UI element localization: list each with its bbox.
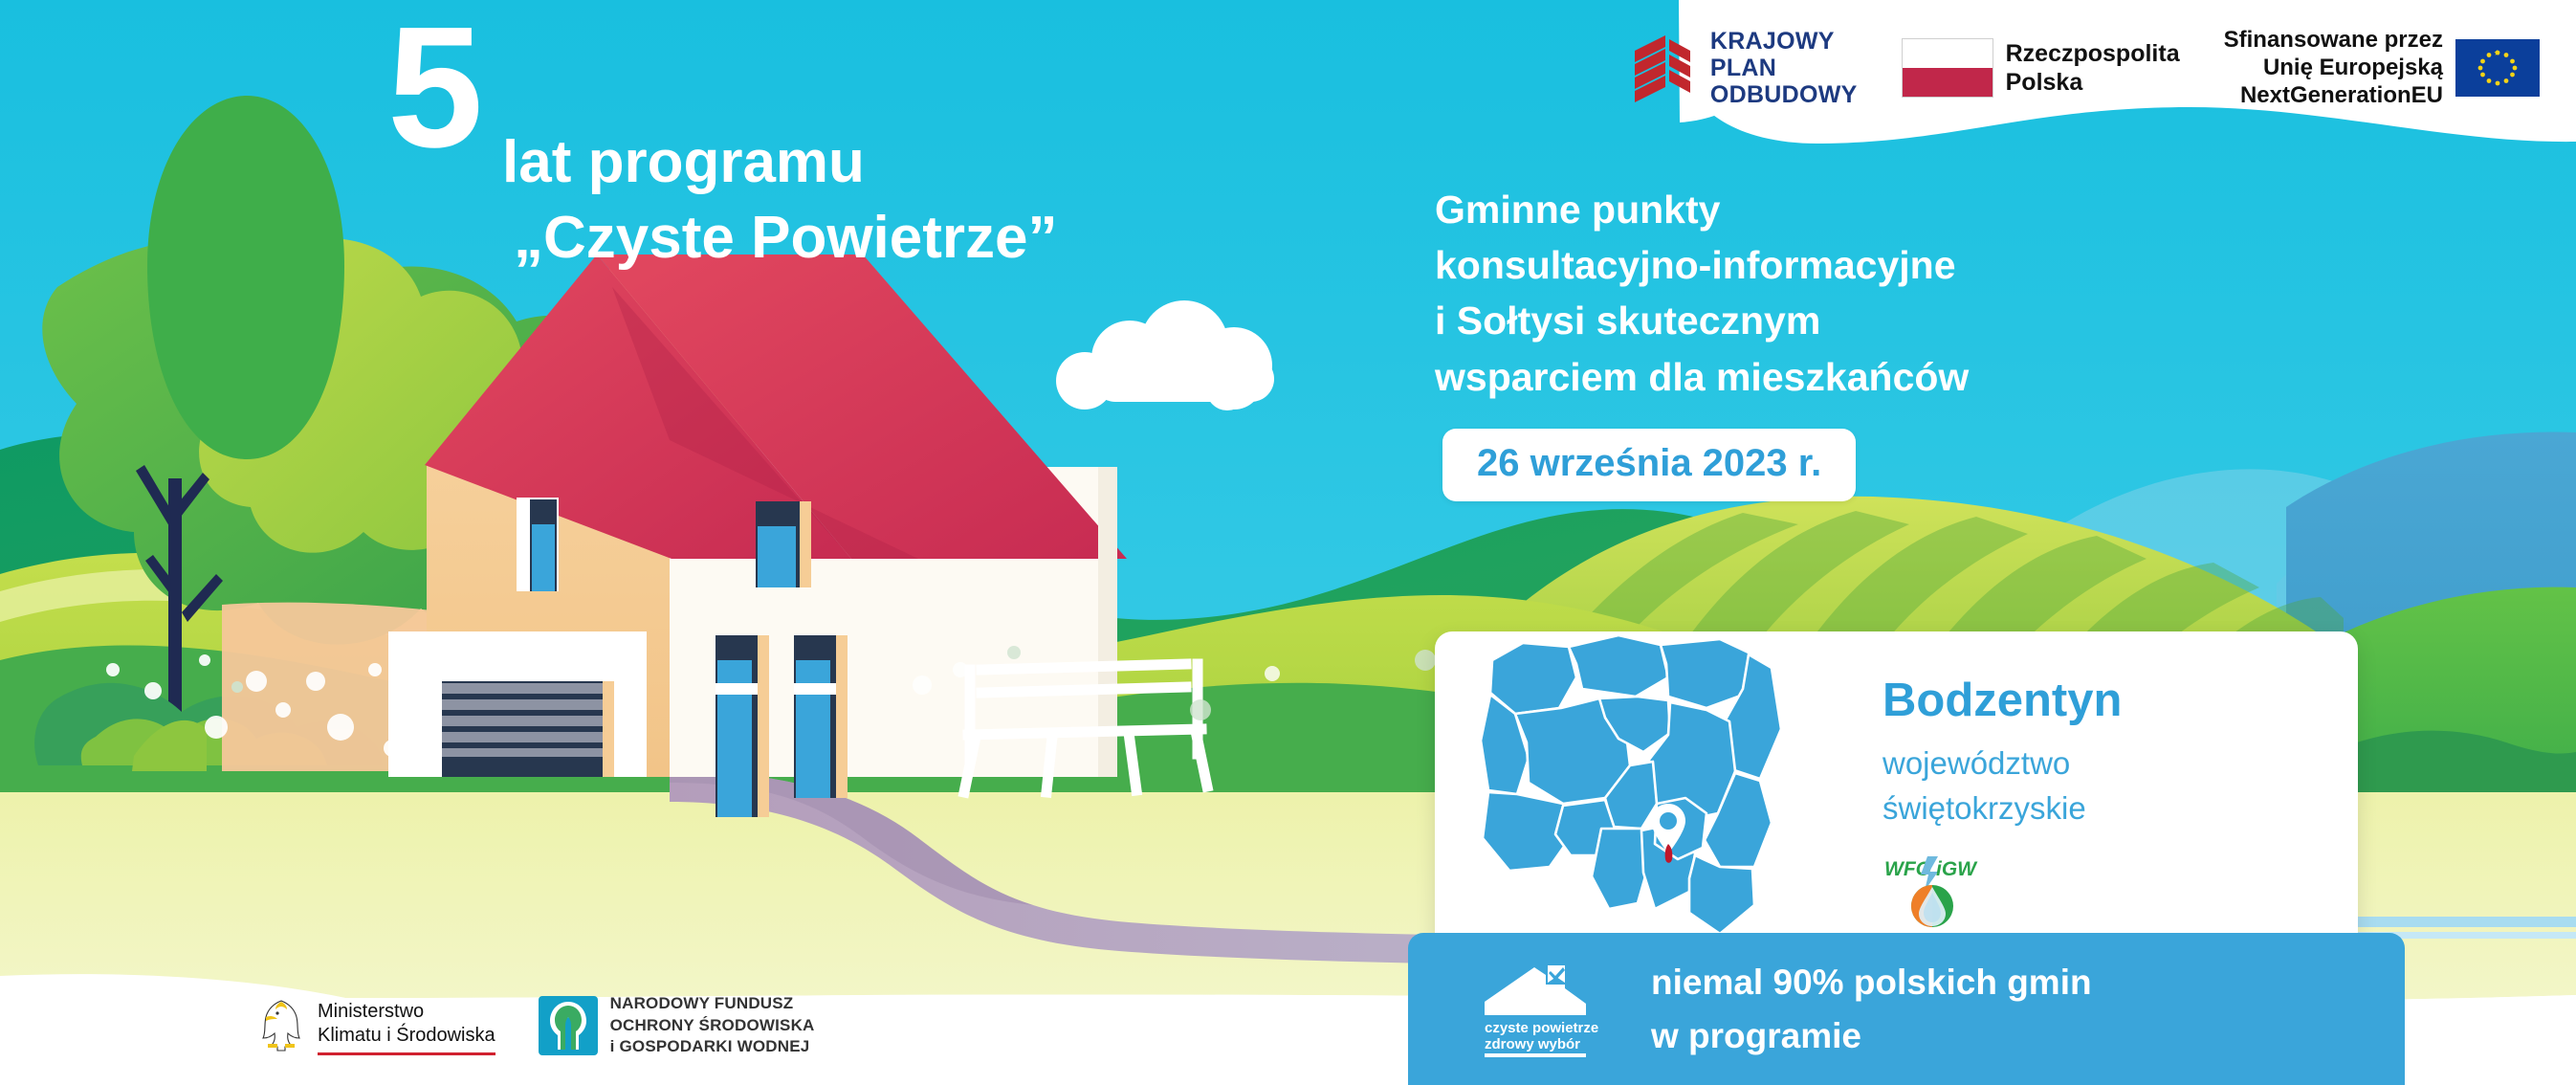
- nfosigw-line-3: i GOSPODARKI WODNEJ: [610, 1036, 815, 1058]
- eu-flag-icon: [2455, 39, 2540, 97]
- ministry-name: Ministerstwo Klimatu i Środowiska: [318, 1000, 495, 1048]
- region-line-1: województwo: [1882, 742, 2122, 786]
- kpo-logo: KRAJOWY PLAN ODBUDOWY: [1627, 28, 1858, 108]
- poland-line-1: Rzeczpospolita: [2006, 39, 2180, 68]
- headline: 5 lat programu „Czyste Powietrze”: [387, 27, 1058, 277]
- city-name: Bodzentyn: [1882, 677, 2122, 724]
- kpo-logo-text: KRAJOWY PLAN ODBUDOWY: [1710, 28, 1858, 108]
- poland-voivodeship-map: [1435, 631, 1846, 952]
- headline-line-1: lat programu: [502, 124, 1058, 200]
- headline-line-2: „Czyste Powietrze”: [502, 200, 1058, 276]
- nfosigw-logo: NARODOWY FUNDUSZ OCHRONY ŚRODOWISKA i GO…: [539, 993, 815, 1058]
- location-card: Bodzentyn województwo świętokrzyskie WFO…: [1435, 631, 2358, 952]
- ministry-logo: Ministerstwo Klimatu i Środowiska: [256, 996, 495, 1055]
- campaign-banner: KRAJOWY PLAN ODBUDOWY Rzeczpospolita Pol…: [0, 0, 2576, 1085]
- anniversary-number: 5: [387, 17, 477, 159]
- event-date-chip: 26 września 2023 r.: [1442, 429, 1856, 501]
- wfosigw-logo-icon: WFO iGW: [1882, 852, 1982, 929]
- poland-line-2: Polska: [2006, 68, 2180, 97]
- poland-flag-icon: [1902, 38, 1993, 98]
- subheadline-line-3: i Sołtysi skutecznym: [1435, 293, 1969, 348]
- program-stat-bar: czyste powietrze zdrowy wybór niemal 90%…: [1408, 933, 2405, 1085]
- stat-line-2: w programie: [1651, 1009, 2092, 1063]
- ministry-line-2: Klimatu i Środowiska: [318, 1024, 495, 1048]
- location-info: Bodzentyn województwo świętokrzyskie WFO…: [1846, 631, 2122, 929]
- ministry-red-rule: [318, 1052, 495, 1055]
- institution-logos: Ministerstwo Klimatu i Środowiska NARODO…: [256, 993, 815, 1058]
- eu-line-3: NextGenerationEU: [2224, 82, 2443, 110]
- nfosigw-line-1: NARODOWY FUNDUSZ: [610, 993, 815, 1015]
- czyste-powietrze-house-icon: czyste powietrze zdrowy wybór: [1479, 960, 1607, 1059]
- program-stat-text: niemal 90% polskich gmin w programie: [1651, 956, 2092, 1062]
- region-name: województwo świętokrzyskie: [1882, 742, 2122, 831]
- eu-line-1: Sfinansowane przez: [2224, 27, 2443, 55]
- headline-lines: lat programu „Czyste Powietrze”: [502, 27, 1058, 277]
- svg-text:czyste powietrze: czyste powietrze: [1485, 1020, 1598, 1036]
- region-line-2: świętokrzyskie: [1882, 786, 2122, 831]
- subheadline: Gminne punkty konsultacyjno-informacyjne…: [1435, 182, 1969, 405]
- eu-line-2: Unię Europejską: [2224, 55, 2443, 82]
- nfosigw-tree-icon: [539, 996, 598, 1055]
- funding-logos: KRAJOWY PLAN ODBUDOWY Rzeczpospolita Pol…: [1627, 27, 2540, 109]
- nfosigw-name: NARODOWY FUNDUSZ OCHRONY ŚRODOWISKA i GO…: [610, 993, 815, 1058]
- subheadline-line-2: konsultacyjno-informacyjne: [1435, 237, 1969, 293]
- svg-text:iGW: iGW: [1936, 858, 1978, 880]
- polish-eagle-icon: [256, 996, 306, 1055]
- subheadline-line-1: Gminne punkty: [1435, 182, 1969, 237]
- nfosigw-line-2: OCHRONY ŚRODOWISKA: [610, 1015, 815, 1037]
- ministry-line-1: Ministerstwo: [318, 1000, 495, 1024]
- eu-logo-text: Sfinansowane przez Unię Europejską NextG…: [2224, 27, 2443, 109]
- poland-logo-text: Rzeczpospolita Polska: [2006, 39, 2180, 97]
- kpo-line-2: PLAN: [1710, 55, 1858, 81]
- stat-line-1: niemal 90% polskich gmin: [1651, 956, 2092, 1009]
- kpo-stairs-icon: [1627, 33, 1698, 102]
- kpo-line-1: KRAJOWY: [1710, 28, 1858, 55]
- subheadline-line-4: wsparciem dla mieszkańców: [1435, 349, 1969, 405]
- svg-text:zdrowy wybór: zdrowy wybór: [1485, 1036, 1580, 1052]
- kpo-line-3: ODBUDOWY: [1710, 81, 1858, 108]
- poland-logo: Rzeczpospolita Polska: [1902, 38, 2180, 98]
- eu-funding-logo: Sfinansowane przez Unię Europejską NextG…: [2224, 27, 2540, 109]
